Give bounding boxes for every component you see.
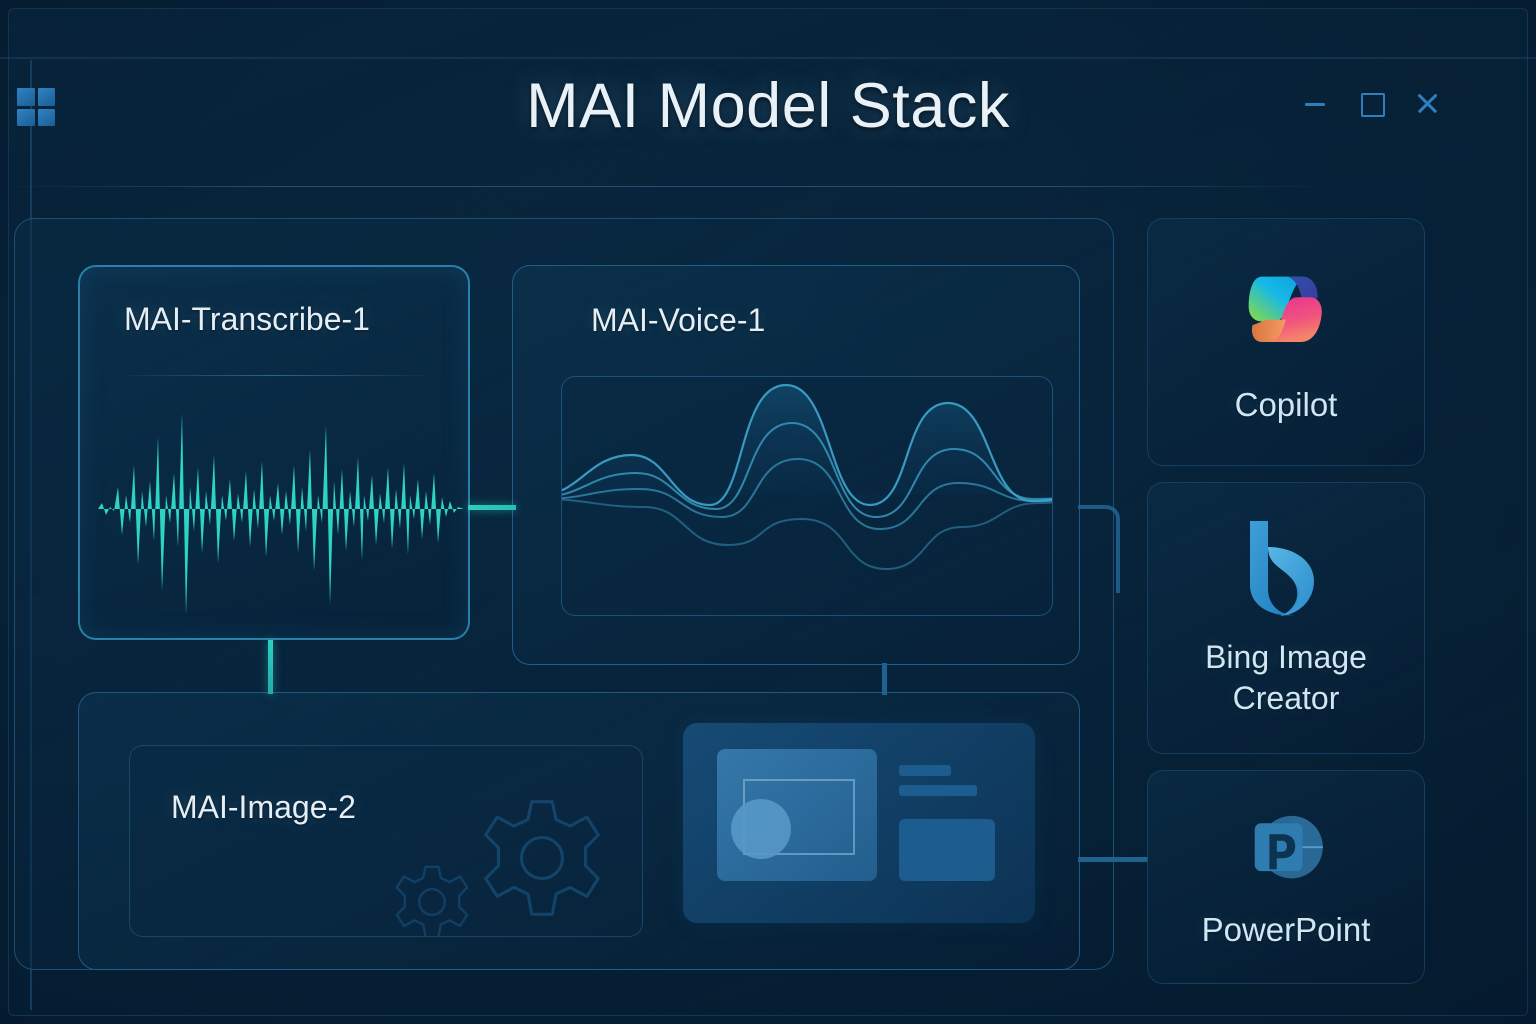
card-title-image: MAI-Image-2 — [171, 789, 356, 826]
connector-voice-image — [882, 663, 887, 695]
audio-waveform-icon — [88, 395, 464, 630]
preview-tile — [717, 749, 877, 881]
card-title-transcribe: MAI-Transcribe-1 — [124, 301, 370, 338]
image-preview-mock — [683, 723, 1035, 923]
window-controls — [1302, 90, 1440, 116]
maximize-icon[interactable] — [1358, 90, 1384, 116]
card-mai-image-2[interactable]: MAI-Image-2 — [78, 692, 1080, 970]
card-divider — [124, 375, 424, 376]
gear-icon — [478, 794, 606, 922]
frame-top-edge — [0, 57, 1536, 59]
bing-logo-icon — [1236, 517, 1336, 623]
connector-voice-copilot — [1078, 505, 1120, 593]
minimize-icon[interactable] — [1302, 90, 1328, 116]
preview-text-bar — [899, 785, 977, 796]
gear-icon-small — [392, 862, 472, 937]
rail-item-powerpoint[interactable]: PowerPoint — [1147, 770, 1425, 984]
rail-label-powerpoint: PowerPoint — [1202, 909, 1371, 951]
card-mai-voice-1[interactable]: MAI-Voice-1 — [512, 265, 1080, 665]
preview-text-bar — [899, 765, 951, 776]
close-icon[interactable] — [1414, 90, 1440, 116]
connector-image-powerpoint — [1078, 857, 1148, 862]
connector-transcribe-image — [268, 640, 273, 694]
app-window: MAI Model Stack MAI-Transcribe-1 MAI-Voi… — [0, 0, 1536, 1024]
voice-wave-container — [561, 376, 1053, 616]
copilot-logo-icon — [1230, 258, 1342, 370]
title-bar: MAI Model Stack — [0, 60, 1536, 185]
connector-transcribe-voice — [468, 505, 516, 510]
card-title-voice: MAI-Voice-1 — [591, 302, 765, 339]
title-divider — [14, 186, 1312, 187]
rail-label-copilot: Copilot — [1235, 384, 1338, 426]
rail-item-bing-image-creator[interactable]: Bing Image Creator — [1147, 482, 1425, 754]
card-mai-transcribe-1[interactable]: MAI-Transcribe-1 — [78, 265, 470, 640]
voice-wave-curves-icon — [561, 377, 1053, 615]
image-left-panel — [129, 745, 643, 937]
preview-block — [899, 819, 995, 881]
rail-item-copilot[interactable]: Copilot — [1147, 218, 1425, 466]
rail-label-bing: Bing Image Creator — [1148, 637, 1424, 719]
powerpoint-logo-icon — [1240, 803, 1332, 895]
preview-circle — [731, 799, 791, 859]
